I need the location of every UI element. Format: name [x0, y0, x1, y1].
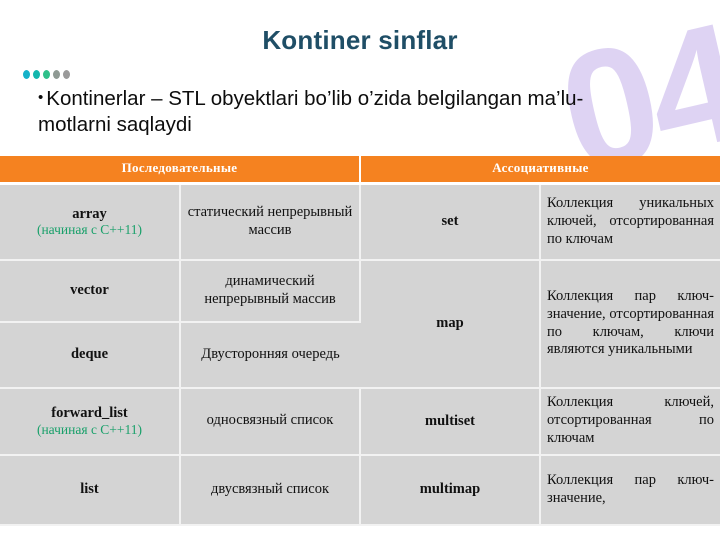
table-head: Последовательные Ассоциативные [0, 156, 720, 184]
cell-seq-name: forward_list (начиная с C++11) [0, 388, 180, 455]
seq-name-text: forward_list [51, 405, 128, 421]
dot-3-icon [43, 70, 50, 79]
seq-name-text: list [80, 481, 99, 497]
table-row: vector динамический непрерывный массив m… [0, 260, 720, 322]
containers-table: Последовательные Ассоциативные array (на… [0, 156, 720, 526]
bullet-line-2: motlarni saqlaydi [38, 112, 698, 138]
cell-seq-desc: Двусторонняя очередь [180, 322, 360, 388]
cell-seq-name: array (начиная с C++11) [0, 184, 180, 260]
table-body: array (начиная с C++11) статический непр… [0, 184, 720, 525]
seq-name-text: vector [70, 282, 109, 298]
cell-assoc-desc: Коллекция ключей, отсортированная по клю… [540, 388, 720, 455]
cell-seq-desc: динамический непрерывный массив [180, 260, 360, 322]
table-row: forward_list (начиная с C++11) односвязн… [0, 388, 720, 455]
cell-seq-desc: односвязный список [180, 388, 360, 455]
cell-assoc-desc: Коллекция пар ключ-значение, [540, 455, 720, 525]
bullet-line-1: •Kontinerlar – STL obyektlari bo’lib o’z… [38, 86, 698, 112]
table-row: array (начиная с C++11) статический непр… [0, 184, 720, 260]
dot-1-icon [23, 70, 30, 79]
cell-assoc-desc: Коллекция пар ключ-значение, отсортирова… [540, 260, 720, 388]
cell-seq-name: list [0, 455, 180, 525]
cell-seq-desc: двусвязный список [180, 455, 360, 525]
bullet-text-1: Kontinerlar – STL obyektlari bo’lib o’zi… [46, 87, 583, 110]
seq-name-sub: (начиная с C++11) [6, 422, 173, 438]
seq-name-sub: (начиная с C++11) [6, 222, 173, 238]
seq-name-text: deque [71, 346, 108, 362]
cell-assoc-name: set [360, 184, 540, 260]
decorative-dots [23, 70, 70, 79]
cell-assoc-desc: Коллекция уникальных ключей, отсортирова… [540, 184, 720, 260]
cell-assoc-name: multiset [360, 388, 540, 455]
table-row: list двусвязный список multimap Коллекци… [0, 455, 720, 525]
header-sequential: Последовательные [0, 156, 360, 184]
slide-canvas: 04 Kontiner sinflar •Kontinerlar – STL o… [0, 0, 720, 540]
header-associative: Ассоциативные [360, 156, 720, 184]
seq-name-text: array [72, 206, 107, 222]
cell-seq-name: vector [0, 260, 180, 322]
page-title: Kontiner sinflar [0, 25, 720, 56]
dot-5-icon [63, 70, 70, 79]
dot-2-icon [33, 70, 40, 79]
cell-seq-name: deque [0, 322, 180, 388]
bullet-block: •Kontinerlar – STL obyektlari bo’lib o’z… [38, 86, 698, 138]
dot-4-icon [53, 70, 60, 79]
cell-assoc-name: multimap [360, 455, 540, 525]
cell-assoc-name: map [360, 260, 540, 388]
cell-seq-desc: статический непрерывный массив [180, 184, 360, 260]
table-header-row: Последовательные Ассоциативные [0, 156, 720, 184]
